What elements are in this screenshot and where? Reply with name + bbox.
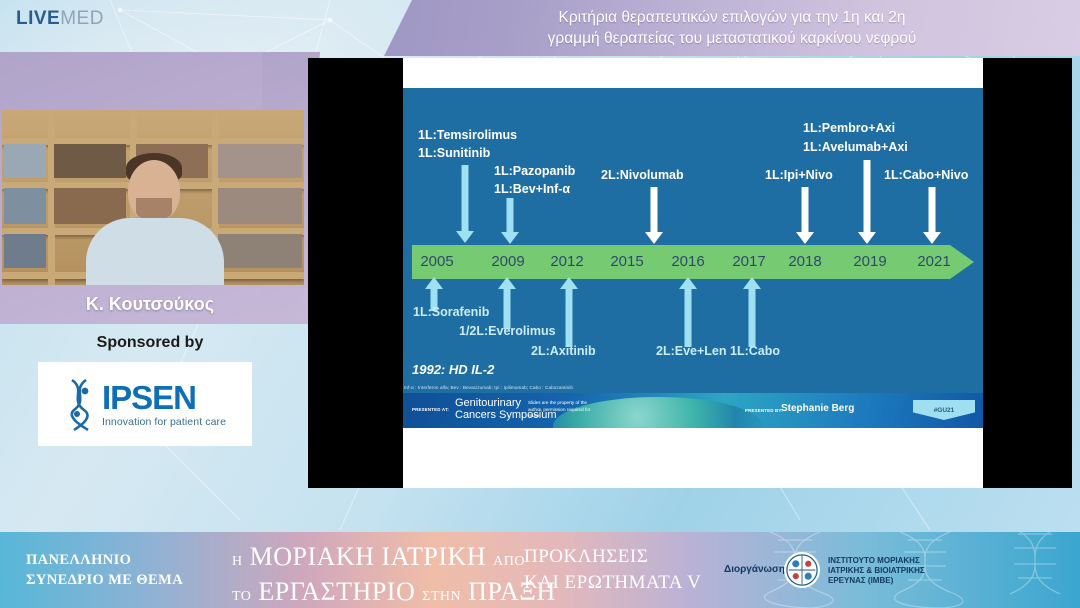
sponsor-logo-ipsen: IPSEN Innovation for patient care: [38, 362, 252, 446]
session-title-banner: Κριτήρια θεραπευτικών επιλογών για την 1…: [384, 0, 1080, 56]
timeline-year-2016: 2016: [671, 245, 704, 279]
slide-label-bev-inf: 1L:Bev+Inf-α: [494, 182, 570, 196]
slide-note-hd-il2: 1992: HD IL-2: [412, 362, 494, 377]
congress-theme-l2-main: ΕΡΓΑΣΤΗΡΙΟ: [258, 577, 415, 606]
organizer-label: Διοργάνωση:: [724, 564, 788, 575]
slide-label-ipi-nivo: 1L:Ipi+Nivo: [765, 168, 833, 182]
sponsored-by-label: Sponsored by: [0, 334, 300, 352]
session-title-line-1: Κριτήρια θεραπευτικών επιλογών για την 1…: [559, 7, 906, 28]
imbe-logo-icon: [784, 552, 820, 588]
slide-label-pazopanib: 1L:Pazopanib: [494, 164, 575, 178]
ipsen-tagline: Innovation for patient care: [102, 417, 226, 428]
ipsen-wordmark: IPSEN: [102, 381, 226, 414]
timeline-year-2019: 2019: [853, 245, 886, 279]
slide-abbreviation-footnote: Inf-α : Interferon alfa; Bev : Bevacizum…: [404, 385, 979, 390]
congress-banner: ΠΑΝΕΛΛΗΝΙΟ ΣΥΝΕΔΡΙΟ ΜΕ ΘΕΜΑ Η ΜΟΡΙΑΚΗ ΙΑ…: [0, 532, 1080, 608]
congress-tagline-line-1: ΠΡΟΚΛΗΣΕΙΣ: [524, 544, 701, 570]
slide-label-pembro-axi: 1L:Pembro+Axi: [803, 121, 895, 135]
books-row: [54, 144, 126, 178]
speaker-name-label: Κ. Κουτσούκος: [0, 285, 300, 323]
congress-theme-l1-suffix: ΑΠΟ: [493, 554, 525, 569]
timeline-year-2017: 2017: [732, 245, 765, 279]
screen: LIVEMED Κριτήρια θεραπευτικών επιλογών γ…: [0, 0, 1080, 608]
slide-label-avelumab-axi: 1L:Avelumab+Axi: [803, 140, 908, 154]
congress-tagline-line-2: ΚΑΙ ΕΡΩΤΗΜΑΤΑ V: [524, 570, 701, 596]
logo-live-text: LIVE: [16, 8, 60, 29]
slide-label-nivolumab: 2L:Nivolumab: [601, 168, 684, 182]
congress-tagline: ΠΡΟΚΛΗΣΕΙΣ ΚΑΙ ΕΡΩΤΗΜΑΤΑ V: [524, 544, 701, 596]
timeline-uparrow-cabo: [742, 277, 762, 347]
congress-theme-l2-mid: ΣΤΗΝ: [422, 589, 461, 604]
books-row: [4, 234, 46, 268]
congress-theme-l1-prefix: Η: [232, 554, 243, 569]
session-title-line-2: γραμμή θεραπείας του μεταστατικού καρκίν…: [548, 28, 917, 49]
timeline-year-2005: 2005: [420, 245, 453, 279]
timeline-uparrow-axitinib: [559, 277, 579, 347]
slide-property-notice: Slides are the property of the author, p…: [528, 400, 598, 420]
timeline-arrow-2015: [644, 187, 664, 247]
speaker-video-feed[interactable]: [2, 110, 304, 285]
presented-at-label: PRESENTED AT:: [412, 407, 449, 412]
presenter-name: Stephanie Berg: [781, 403, 854, 414]
slide-label-sunitinib: 1L:Sunitinib: [418, 146, 490, 160]
organizer-name: ΙΝΣΤΙΤΟΥΤΟ ΜΟΡΙΑΚΗΣ ΙΑΤΡΙΚΗΣ & ΒΙΟΙΑΤΡΙΚ…: [828, 556, 925, 586]
symposium-footer-strip: PRESENTED AT: Genitourinary Cancers Symp…: [403, 393, 983, 428]
slide-label-cabo: 1L:Cabo: [730, 344, 780, 358]
speaker-torso: [86, 218, 224, 285]
slide-label-eve-len: 2L:Eve+Len: [656, 344, 727, 358]
timeline-year-2021: 2021: [917, 245, 950, 279]
timeline-arrow-2021: [922, 187, 942, 247]
timeline-bar: 2005 2009 2012 2015 2016 2017 2018 2019 …: [412, 245, 974, 279]
timeline-year-2012: 2012: [550, 245, 583, 279]
timeline-arrow-2018: [795, 187, 815, 247]
presented-by-label: PRESENTED BY:: [745, 408, 783, 413]
books-row: [54, 188, 126, 224]
congress-theme-l1-main: ΜΟΡΙΑΚΗ ΙΑΤΡΙΚΗ: [250, 542, 486, 571]
timeline-uparrow-eve-len: [678, 277, 698, 347]
ipsen-helix-icon: [64, 376, 98, 432]
timeline-year-2015: 2015: [610, 245, 643, 279]
organizer-name-line-2: ΙΑΤΡΙΚΗΣ & ΒΙΟΙΑΤΡΙΚΗΣ: [828, 566, 925, 576]
congress-subtitle-line-2: ΣΥΝΕΔΡΙΟ ΜΕ ΘΕΜΑ: [26, 570, 183, 590]
slide-label-everolimus: 1/2L:Everolimus: [459, 324, 556, 338]
timeline-arrow-2019: [857, 160, 877, 247]
logo-med-text: MED: [60, 8, 104, 29]
congress-subtitle-line-1: ΠΑΝΕΛΛΗΝΙΟ: [26, 550, 183, 570]
congress-theme-l2-prefix: ΤΟ: [232, 589, 251, 604]
timeline-year-2009: 2009: [491, 245, 524, 279]
timeline-arrow-2009: [500, 198, 520, 247]
symposium-hashtag-badge: #GU21: [913, 400, 975, 420]
books-row: [4, 188, 46, 224]
imbe-emblem: [786, 554, 818, 586]
organizer-name-line-3: ΕΡΕΥΝΑΣ (ΙΜΒΕ): [828, 576, 925, 586]
timeline-year-2018: 2018: [788, 245, 821, 279]
slide-label-axitinib: 2L:Axitinib: [531, 344, 596, 358]
slide-label-temsirolimus: 1L:Temsirolimus: [418, 128, 517, 142]
slide-label-cabo-nivo: 1L:Cabo+Nivo: [884, 168, 968, 182]
timeline-uparrow-everolimus: [497, 277, 517, 329]
books-row: [218, 234, 302, 268]
speaker-beard: [136, 198, 172, 220]
timeline-arrow-2005: [455, 165, 475, 247]
congress-subtitle: ΠΑΝΕΛΛΗΝΙΟ ΣΥΝΕΔΡΙΟ ΜΕ ΘΕΜΑ: [26, 550, 183, 590]
congress-theme: Η ΜΟΡΙΑΚΗ ΙΑΤΡΙΚΗ ΑΠΟ ΤΟ ΕΡΓΑΣΤΗΡΙΟ ΣΤΗΝ…: [232, 542, 556, 608]
slide-label-sorafenib: 1L:Sorafenib: [413, 305, 489, 319]
books-row: [4, 144, 46, 178]
books-row: [218, 188, 302, 224]
books-row: [218, 144, 302, 178]
organizer-name-line-1: ΙΝΣΤΙΤΟΥΤΟ ΜΟΡΙΑΚΗΣ: [828, 556, 925, 566]
livemed-logo: LIVEMED: [16, 8, 104, 30]
